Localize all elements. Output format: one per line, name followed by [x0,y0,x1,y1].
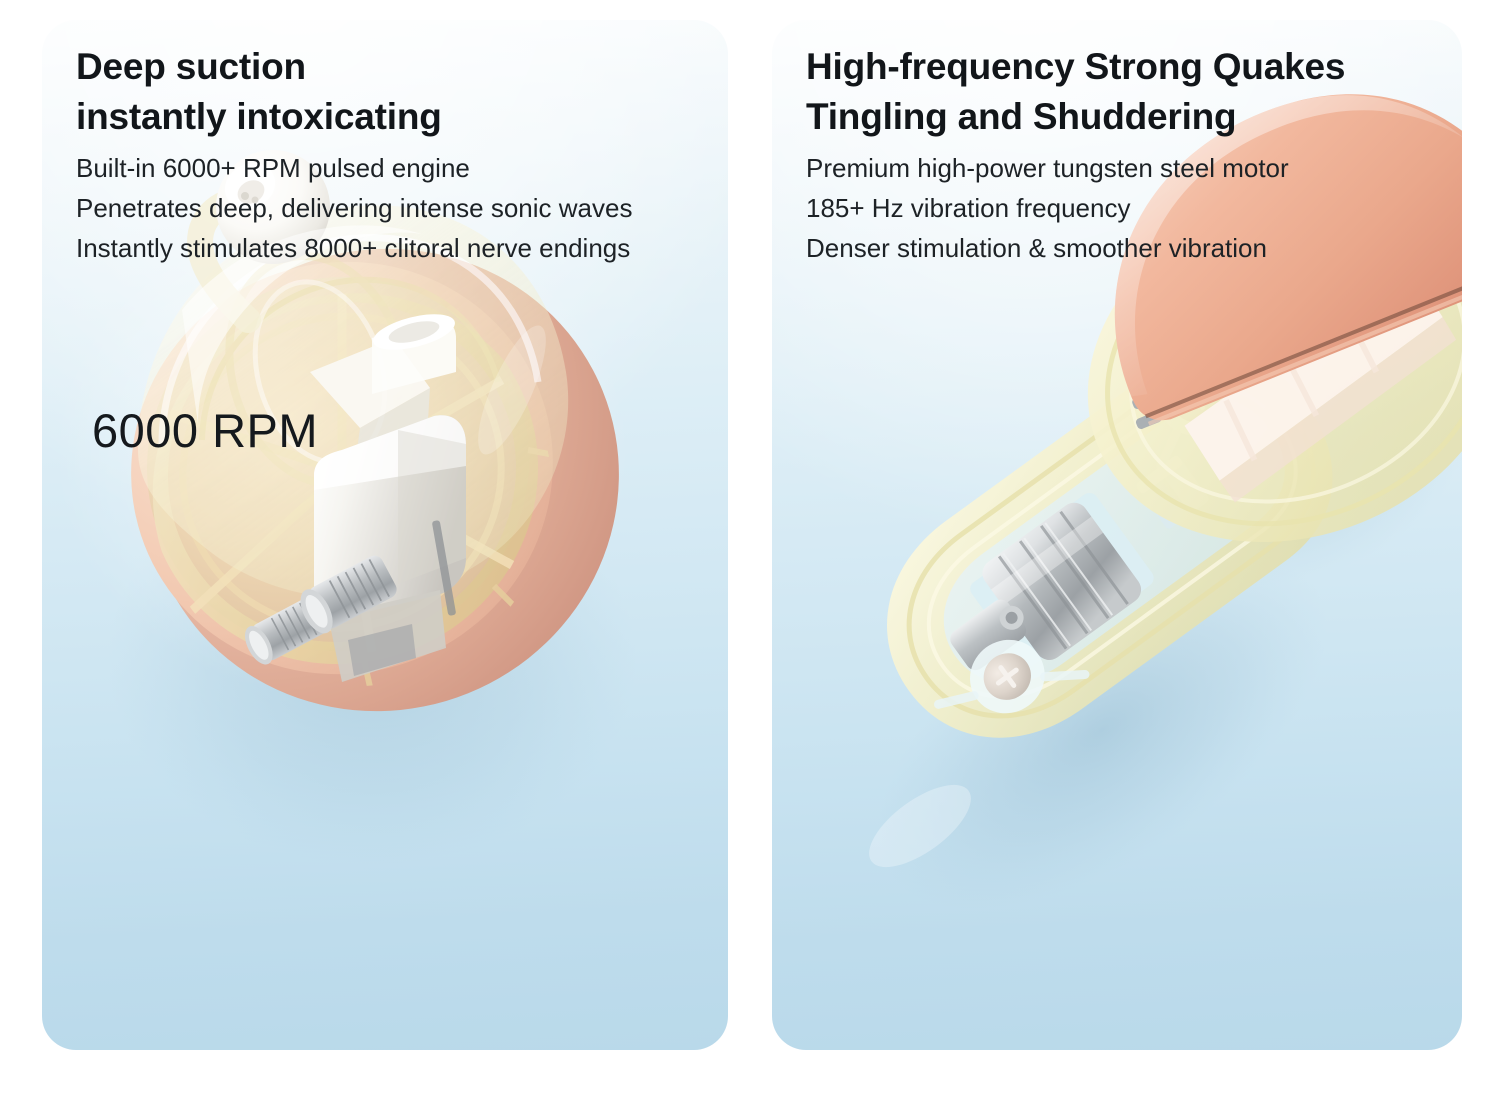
bullet-3: Instantly stimulates 8000+ clitoral nerv… [76,228,632,268]
headline-line-1: Deep suction [76,42,632,92]
marketing-sheet: Deep suction instantly intoxicating Buil… [0,0,1500,1100]
bullet-1: Built-in 6000+ RPM pulsed engine [76,148,632,188]
headline-line-2: instantly intoxicating [76,92,632,142]
headline-line-2: Tingling and Shuddering [806,92,1345,142]
bullet-2: Penetrates deep, delivering intense soni… [76,188,632,228]
bullet-1: Premium high-power tungsten steel motor [806,148,1345,188]
panel-copy-right: High-frequency Strong Quakes Tingling an… [806,42,1345,268]
feature-panel-high-frequency: High-frequency Strong Quakes Tingling an… [772,20,1462,1050]
headline-line-1: High-frequency Strong Quakes [806,42,1345,92]
rpm-badge: 6000 RPM [92,400,318,462]
feature-panel-deep-suction: Deep suction instantly intoxicating Buil… [42,20,728,1050]
panel-copy-left: Deep suction instantly intoxicating Buil… [76,42,632,268]
bullet-3: Denser stimulation & smoother vibration [806,228,1345,268]
bullet-2: 185+ Hz vibration frequency [806,188,1345,228]
